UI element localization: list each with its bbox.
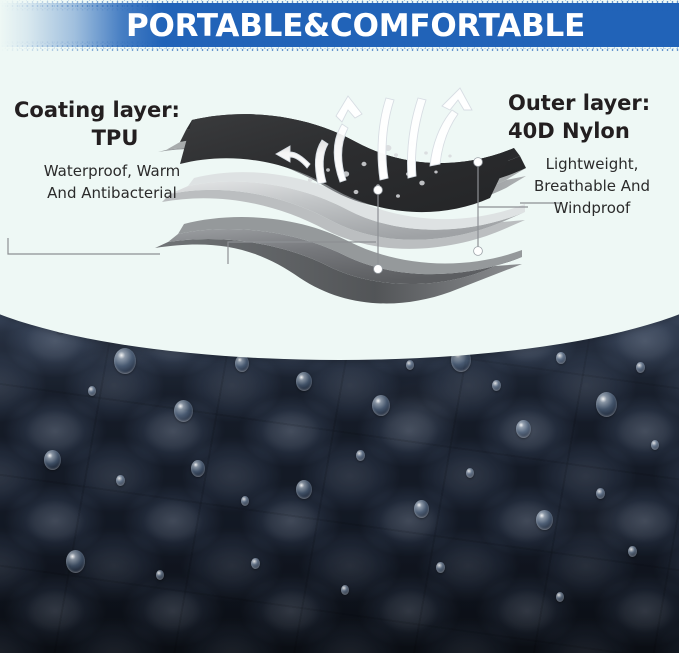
water-droplet [372, 395, 390, 416]
water-droplet [516, 420, 531, 438]
water-droplet [536, 510, 553, 530]
leader-dot [374, 186, 383, 195]
coating-layer-body: Waterproof, Warm And Antibacterial [8, 161, 216, 205]
water-droplet [44, 450, 61, 470]
leader-dot [474, 247, 483, 256]
coating-layer-body-line1: Waterproof, Warm [8, 161, 216, 183]
coating-layer-title-line1: Coating layer: [14, 98, 180, 122]
outer-layer-body: Lightweight, Breathable And Windproof [508, 154, 676, 220]
water-droplet [414, 500, 429, 518]
water-droplet [241, 496, 249, 506]
water-droplet [114, 348, 136, 374]
leader-dot [374, 265, 383, 274]
water-droplet [341, 585, 349, 595]
water-droplet [296, 480, 312, 499]
water-droplet [174, 400, 193, 422]
coating-layer-title-line2: TPU [14, 125, 216, 153]
outer-layer-body-line3: Windproof [508, 198, 676, 220]
outer-layer-title: Outer layer: 40D Nylon [508, 90, 676, 145]
coating-layer-label: Coating layer: TPU Waterproof, Warm And … [8, 97, 216, 205]
leader-dot [474, 158, 483, 167]
water-droplet [88, 386, 96, 396]
header-banner: PORTABLE&COMFORTABLE [0, 0, 679, 52]
water-droplet [116, 475, 125, 486]
water-droplet [596, 488, 605, 499]
coating-layer-body-line2: And Antibacterial [8, 183, 216, 205]
leader-line-left-tail [0, 230, 160, 260]
water-droplet [596, 392, 617, 417]
coating-layer-title: Coating layer: TPU [8, 97, 216, 152]
outer-layer-title-line1: Outer layer: [508, 90, 676, 118]
water-droplet [436, 562, 445, 573]
water-droplet [492, 380, 501, 391]
product-infographic: Coating layer: TPU Waterproof, Warm And … [0, 0, 679, 653]
banner-title: PORTABLE&COMFORTABLE [0, 0, 679, 52]
outer-layer-body-line2: Breathable And [508, 176, 676, 198]
water-droplet [628, 546, 637, 557]
water-droplet [556, 592, 564, 602]
outer-layer-body-line1: Lightweight, [508, 154, 676, 176]
water-droplet [191, 460, 205, 477]
outer-layer-label: Outer layer: 40D Nylon Lightweight, Brea… [508, 90, 676, 220]
water-droplet [356, 450, 365, 461]
vapour-arrow [336, 96, 362, 122]
water-droplet [636, 362, 645, 373]
water-droplet [156, 570, 164, 580]
water-droplet [651, 440, 659, 450]
water-droplet [466, 468, 474, 478]
outer-layer-title-line2: 40D Nylon [508, 118, 676, 146]
water-droplet [296, 372, 312, 391]
water-droplet [406, 360, 414, 370]
vapour-arrow [442, 88, 472, 110]
water-droplet [556, 352, 566, 364]
water-droplet [235, 355, 249, 372]
water-droplet [66, 550, 85, 573]
water-droplet [251, 558, 260, 569]
vapour-arrow [430, 110, 458, 166]
